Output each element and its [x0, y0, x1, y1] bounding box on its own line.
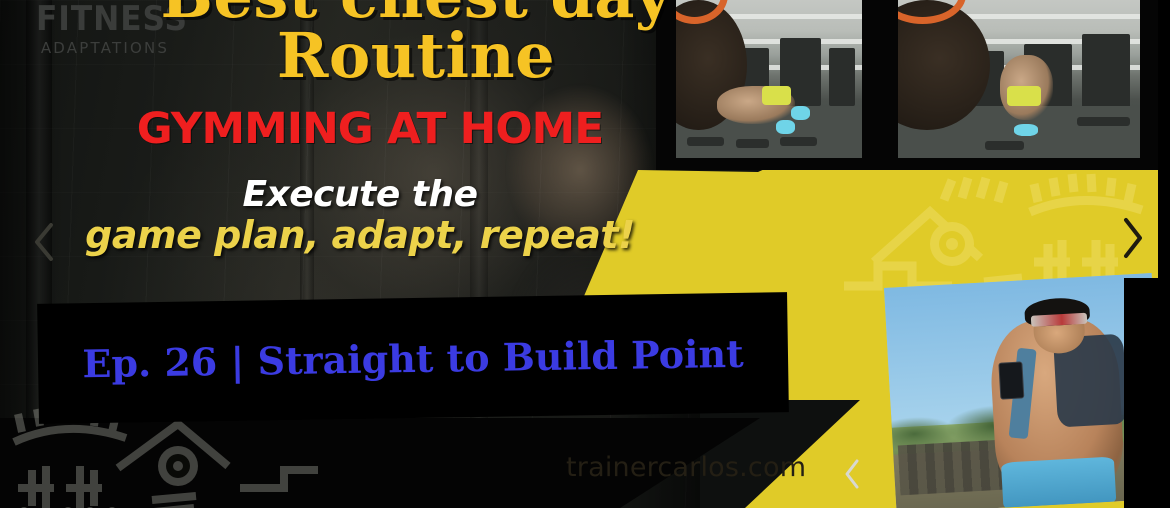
- website-url: trainercarlos.com: [566, 452, 806, 483]
- tagline-line-2: game plan, adapt, repeat!: [60, 215, 660, 256]
- tagline-line-1: Execute the: [60, 176, 660, 215]
- athlete-running-photo[interactable]: [884, 273, 1164, 508]
- promo-slide: FITNESS ADAPTATIONS Best chest day Routi…: [0, 0, 1170, 508]
- carousel-prev-button[interactable]: [22, 212, 66, 272]
- gym-floor-press-thumbnail[interactable]: [676, 0, 862, 158]
- episode-title-bar: Ep. 26 | Straight to Build Point: [37, 292, 789, 424]
- episode-title: Ep. 26 | Straight to Build Point: [82, 330, 744, 385]
- slide-tagline: Execute the game plan, adapt, repeat!: [60, 176, 660, 256]
- chevron-left-icon: [842, 457, 862, 491]
- photo-prev-button[interactable]: [836, 452, 868, 496]
- chevron-right-icon: [1119, 215, 1145, 261]
- slide-headline: Best chest day Routine: [146, 0, 686, 85]
- right-edge-border: [1158, 0, 1170, 508]
- gym-dumbbell-row-thumbnail[interactable]: [898, 0, 1140, 158]
- slide-subheadline: GYMMING AT HOME: [64, 108, 676, 151]
- carousel-next-button[interactable]: [1110, 208, 1154, 268]
- chevron-left-icon: [31, 220, 57, 264]
